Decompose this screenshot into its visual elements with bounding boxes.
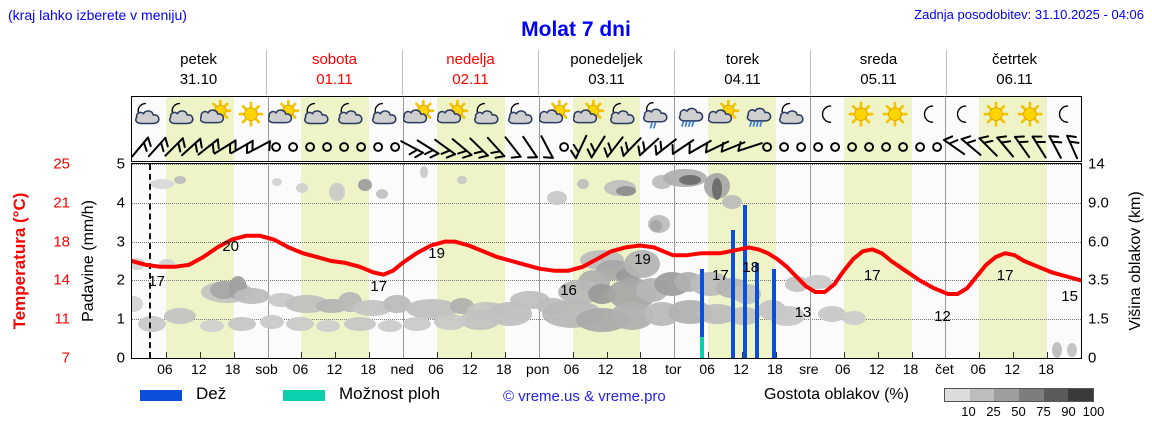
axis-tick-label: 18 — [53, 233, 70, 250]
time-axis-label: 18 — [632, 361, 648, 377]
copyright-link[interactable]: © vreme.us & vreme.pro — [503, 388, 666, 405]
day-column-sreda: sreda05.11 — [811, 50, 947, 95]
cloud-density-label: Gostota oblakov (%) — [764, 386, 909, 404]
density-tick-label: 25 — [986, 404, 1000, 419]
day-name: četrtek — [992, 50, 1037, 70]
axis-tick-label: 1 — [117, 311, 125, 328]
rain-legend-swatch — [140, 390, 182, 401]
day-date: 03.11 — [588, 70, 624, 90]
density-swatch — [970, 389, 995, 401]
axis-tick-label: 6.0 — [1088, 233, 1109, 250]
density-swatch — [1068, 389, 1093, 401]
day-date: 06.11 — [996, 70, 1032, 90]
day-name: ponedeljek — [570, 50, 643, 70]
day-column-sobota: sobota01.11 — [267, 50, 403, 95]
temperature-value-label: 17 — [997, 267, 1014, 284]
day-date: 02.11 — [452, 70, 488, 90]
time-axis-label: sre — [799, 361, 818, 377]
time-axis-label: ned — [390, 361, 413, 377]
time-axis-label: 06 — [699, 361, 715, 377]
time-axis-label: 12 — [462, 361, 478, 377]
weather-icon-moon-cloud — [301, 99, 335, 131]
weather-icon-sun-cloud — [708, 99, 742, 131]
temperature-axis-ticks: 25211814117 — [32, 163, 72, 359]
day-column-četrtek: četrtek06.11 — [947, 50, 1082, 95]
day-header-row: petek31.10sobota01.11nedelja02.11ponedel… — [131, 50, 1082, 95]
day-column-ponedeljek: ponedeljek03.11 — [539, 50, 675, 95]
temperature-value-label: 19 — [634, 251, 651, 268]
cloud-density-ticks: 1025507590100 — [938, 404, 1104, 420]
temperature-value-label: 18 — [742, 259, 759, 276]
temperature-value-label: 17 — [370, 278, 387, 295]
cloud-height-axis-title-text: Višina oblakov (km) — [1127, 191, 1145, 330]
time-axis-label: čet — [935, 361, 954, 377]
axis-tick-label: 11 — [54, 311, 70, 328]
precipitation-axis-title: Padavine (mm/h) — [76, 163, 102, 359]
weather-icon-moon — [912, 99, 946, 131]
day-date: 05.11 — [860, 70, 896, 90]
time-axis-label: 12 — [327, 361, 343, 377]
time-axis-label: pon — [526, 361, 549, 377]
cloud-height-axis-title: Višina oblakov (km) — [1122, 163, 1150, 359]
weather-icon-sun — [979, 99, 1013, 131]
day-column-torek: torek04.11 — [675, 50, 811, 95]
weather-icon-sun-cloud — [437, 99, 471, 131]
weather-icon-sun-cloud — [573, 99, 607, 131]
time-axis-label: 06 — [157, 361, 173, 377]
axis-tick-label: 7 — [62, 350, 70, 367]
weather-icon-moon-rain — [640, 99, 674, 131]
density-tick-label: 10 — [961, 404, 975, 419]
temperature-axis-title: Temperatura (°C) — [6, 163, 34, 359]
axis-tick-label: 14 — [1088, 156, 1105, 173]
wind-barb — [1056, 133, 1082, 161]
density-swatch — [1019, 389, 1044, 401]
weather-icon-moon — [1047, 99, 1081, 131]
axis-tick-label: 0 — [1088, 350, 1096, 367]
axis-tick-label: 21 — [53, 194, 70, 211]
density-tick-label: 100 — [1083, 404, 1105, 419]
temperature-value-label: 17 — [712, 267, 729, 284]
forecast-plot: 17201719161917181317121715 — [131, 163, 1082, 359]
precipitation-axis-title-text: Padavine (mm/h) — [80, 200, 98, 322]
time-axis-label: 18 — [225, 361, 241, 377]
day-date: 01.11 — [316, 70, 352, 90]
weather-icon-moon-cloud — [776, 99, 810, 131]
time-axis-label: 06 — [428, 361, 444, 377]
weather-icon-moon-cloud — [369, 99, 403, 131]
time-axis-label: 18 — [903, 361, 919, 377]
time-axis-label: 06 — [971, 361, 987, 377]
time-axis-label: 06 — [564, 361, 580, 377]
density-tick-label: 90 — [1061, 404, 1075, 419]
day-date: 31.10 — [180, 70, 218, 90]
axis-tick-label: 3 — [117, 233, 125, 250]
showers-legend-swatch — [283, 390, 325, 401]
temperature-curve — [132, 164, 1081, 358]
axis-tick-label: 14 — [53, 272, 70, 289]
time-axis-label: 18 — [496, 361, 512, 377]
temperature-value-label: 13 — [795, 304, 812, 321]
temperature-value-label: 15 — [1061, 288, 1078, 305]
weather-icon-moon-cloud — [471, 99, 505, 131]
weather-icon-wind-band — [131, 96, 1082, 162]
time-axis-label: 18 — [767, 361, 783, 377]
weather-icon-moon-cloud — [607, 99, 641, 131]
time-axis-label: 12 — [1004, 361, 1020, 377]
weather-icon-rain — [674, 99, 708, 131]
time-axis-ticks: 061218sob061218ned061218pon061218tor0612… — [131, 361, 1082, 379]
time-axis-label: 18 — [1038, 361, 1054, 377]
density-swatch — [1044, 389, 1069, 401]
last-updated: Zadnja posodobitev: 31.10.2025 - 04:06 — [914, 7, 1144, 22]
day-name: torek — [726, 50, 759, 70]
weather-icon-moon — [810, 99, 844, 131]
weather-icon-sun — [1013, 99, 1047, 131]
weather-icon-sun — [234, 99, 268, 131]
day-name: petek — [180, 50, 217, 70]
temperature-value-label: 16 — [560, 282, 577, 299]
temperature-value-label: 20 — [222, 238, 239, 255]
weather-icon-sun-cloud — [268, 99, 302, 131]
axis-tick-label: 1.5 — [1088, 311, 1109, 328]
time-axis-label: 12 — [869, 361, 885, 377]
time-axis-label: 06 — [835, 361, 851, 377]
precipitation-axis-ticks: 543210 — [100, 163, 128, 359]
density-swatch — [994, 389, 1019, 401]
day-date: 04.11 — [724, 70, 760, 90]
day-column-nedelja: nedelja02.11 — [403, 50, 539, 95]
weather-icon-sun-cloud — [200, 99, 234, 131]
axis-tick-label: 3.5 — [1088, 272, 1109, 289]
weather-icon-sun — [878, 99, 912, 131]
day-name: sreda — [860, 50, 898, 70]
temperature-axis-title-text: Temperatura (°C) — [10, 193, 30, 330]
axis-tick-label: 2 — [117, 272, 125, 289]
axis-tick-label: 4 — [117, 194, 125, 211]
density-tick-label: 75 — [1036, 404, 1050, 419]
time-axis-label: sob — [255, 361, 278, 377]
time-axis-label: 12 — [191, 361, 207, 377]
rain-legend-label: Dež — [196, 384, 226, 404]
weather-icon-sun-cloud — [539, 99, 573, 131]
weather-icon-sun — [844, 99, 878, 131]
weather-icon-moon-cloud — [132, 99, 166, 131]
temperature-value-label: 19 — [428, 245, 445, 262]
time-axis-label: tor — [665, 361, 681, 377]
weather-icon-moon-cloud — [166, 99, 200, 131]
weather-icon-rain — [742, 99, 776, 131]
day-name: nedelja — [446, 50, 494, 70]
time-axis-label: 18 — [360, 361, 376, 377]
time-axis-label: 12 — [598, 361, 614, 377]
axis-tick-label: 0 — [117, 350, 125, 367]
temperature-value-label: 17 — [864, 267, 881, 284]
temperature-value-label: 17 — [148, 273, 165, 290]
weather-icon-moon — [945, 99, 979, 131]
axis-tick-label: 5 — [117, 156, 125, 173]
temperature-value-label: 12 — [934, 308, 951, 325]
gridline-horizontal — [132, 358, 1081, 359]
density-swatch — [945, 389, 970, 401]
weather-icon-sun-cloud — [403, 99, 437, 131]
showers-legend-label: Možnost ploh — [339, 384, 440, 404]
axis-tick-label: 9.0 — [1088, 194, 1109, 211]
time-axis-label: 12 — [733, 361, 749, 377]
axis-tick-label: 25 — [53, 156, 70, 173]
weather-icon-moon-cloud — [335, 99, 369, 131]
day-name: sobota — [312, 50, 357, 70]
day-column-petek: petek31.10 — [131, 50, 267, 95]
weather-icon-moon-cloud — [505, 99, 539, 131]
cloud-density-colorbar — [944, 388, 1094, 402]
density-tick-label: 50 — [1011, 404, 1025, 419]
time-axis-label: 06 — [293, 361, 309, 377]
